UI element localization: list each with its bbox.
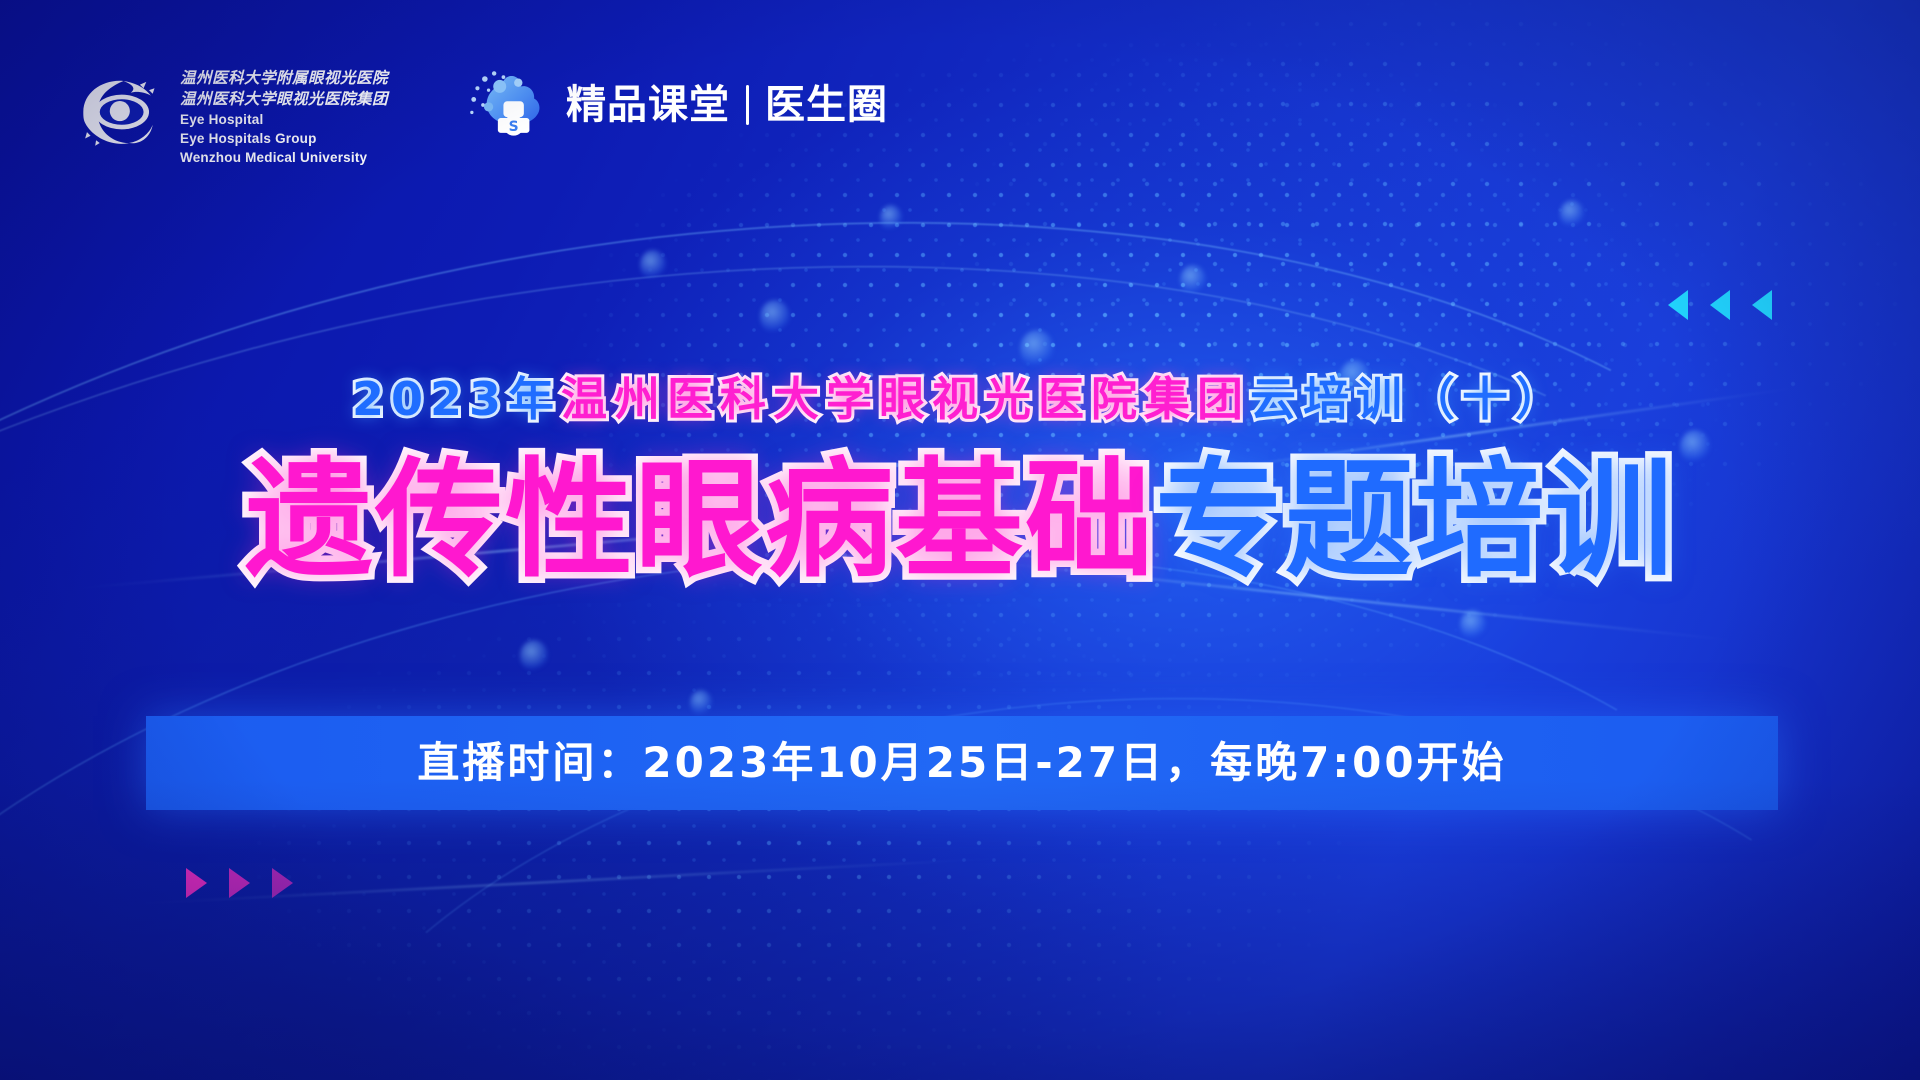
hospital-name-en-2: Eye Hospitals Group	[180, 130, 388, 148]
schedule-text: 直播时间：2023年10月25日-27日，每晚7:00开始	[417, 742, 1506, 784]
title-topic: 遗传性眼病基础	[245, 446, 1155, 595]
arrows-top-right	[1668, 290, 1772, 320]
triangle-right-icon	[186, 868, 207, 898]
triangle-left-icon	[1668, 290, 1688, 320]
partner-divider	[746, 85, 749, 125]
hospital-logo: 温州医科大学附属眼视光医院 温州医科大学眼视光医院集团 Eye Hospital…	[72, 66, 388, 167]
arrows-bottom-left	[186, 868, 293, 898]
triangle-right-icon	[229, 868, 250, 898]
partner-logo: S 精品课堂 医生圈	[466, 66, 888, 144]
subtitle-series: 云培训（十）	[1250, 372, 1568, 426]
partner-sub-name: 医生圈	[765, 85, 888, 125]
poster-subtitle: 2023年温州医科大学眼视光医院集团云培训（十）	[0, 376, 1920, 422]
title-suffix: 专题培训	[1155, 446, 1675, 595]
eye-brushstroke-icon	[72, 70, 164, 154]
hospital-name-cn-1: 温州医科大学附属眼视光医院	[180, 68, 388, 88]
subtitle-year: 2023年	[352, 372, 561, 426]
triangle-left-icon	[1710, 290, 1730, 320]
partner-name: 精品课堂	[566, 85, 730, 125]
promo-poster: 温州医科大学附属眼视光医院 温州医科大学眼视光医院集团 Eye Hospital…	[0, 0, 1920, 1080]
triangle-left-icon	[1752, 290, 1772, 320]
svg-text:S: S	[509, 119, 519, 135]
hospital-name-en-3: Wenzhou Medical University	[180, 149, 388, 167]
hospital-name-cn-2: 温州医科大学眼视光医院集团	[180, 89, 388, 109]
subtitle-org: 温州医科大学眼视光医院集团	[561, 372, 1250, 426]
poster-title: 遗传性眼病基础专题培训	[0, 452, 1920, 590]
triangle-right-icon	[272, 868, 293, 898]
schedule-bar: 直播时间：2023年10月25日-27日，每晚7:00开始	[146, 716, 1778, 810]
hospital-name-en-1: Eye Hospital	[180, 111, 388, 129]
blob-molecule-icon: S	[466, 66, 552, 144]
poster-header: 温州医科大学附属眼视光医院 温州医科大学眼视光医院集团 Eye Hospital…	[0, 0, 1920, 190]
